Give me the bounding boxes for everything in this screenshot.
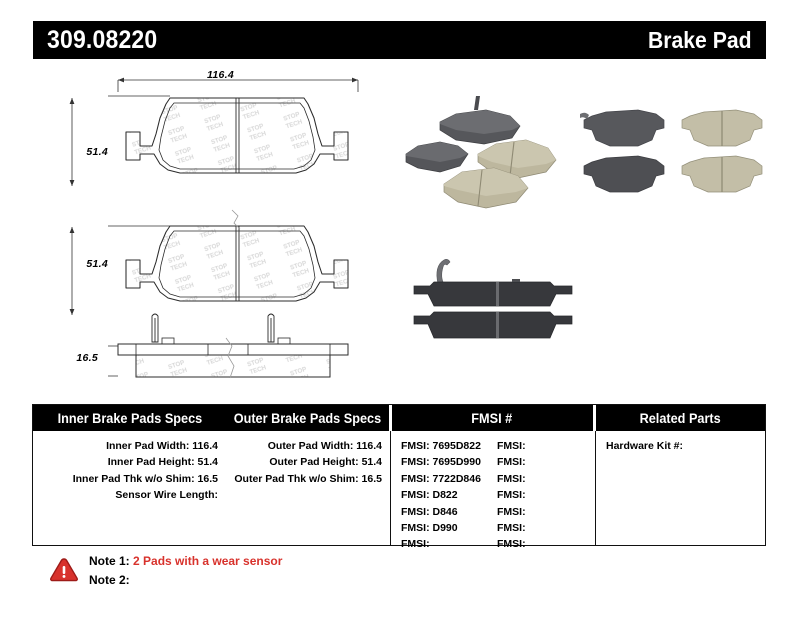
table-header-related-parts: Related Parts	[596, 405, 765, 431]
spec-inner-pad-height: Inner Pad Height: 51.4	[33, 454, 218, 470]
note-1: Note 1: 2 Pads with a wear sensor	[89, 552, 282, 571]
dimension-height-top-line	[66, 92, 112, 192]
fmsi-entry: FMSI: 7695D822	[401, 438, 497, 454]
spec-inner-pad-thk: Inner Pad Thk w/o Shim: 16.5	[33, 471, 218, 487]
column-inner-specs: Inner Pad Width: 116.4 Inner Pad Height:…	[33, 431, 228, 546]
header-bar: 309.08220 Brake Pad	[33, 21, 766, 59]
fmsi-entry: FMSI:	[497, 454, 577, 470]
cad-pad-top-view: STOP TECH	[108, 74, 368, 184]
product-photo-angled	[400, 92, 565, 217]
fmsi-entry: FMSI:	[497, 438, 577, 454]
spec-outer-pad-width: Outer Pad Width: 116.4	[228, 438, 382, 454]
related-hardware-kit: Hardware Kit #:	[606, 438, 765, 454]
dimension-width-label: 116.4	[207, 69, 234, 81]
note-1-label: Note 1:	[89, 554, 130, 568]
fmsi-entry: FMSI: D822	[401, 487, 497, 503]
table-header-outer-specs: Outer Brake Pads Specs	[227, 405, 388, 431]
cad-pad-mid-view	[108, 202, 368, 312]
table-header-inner-specs: Inner Brake Pads Specs	[33, 405, 227, 431]
drawing-area: STOP TECH	[0, 62, 800, 392]
column-fmsi: FMSI: 7695D822 FMSI: 7695D990 FMSI: 7722…	[390, 431, 595, 546]
note-1-text: 2 Pads with a wear sensor	[133, 554, 282, 568]
cad-pad-edge-view	[108, 308, 368, 386]
spec-sensor-wire-length: Sensor Wire Length:	[33, 487, 218, 503]
fmsi-entry: FMSI:	[497, 504, 577, 520]
fmsi-list-right: FMSI: FMSI: FMSI: FMSI: FMSI: FMSI: FMSI…	[497, 438, 577, 546]
note-2-label: Note 2:	[89, 573, 130, 587]
table-header-fmsi: FMSI #	[392, 405, 593, 431]
spec-outer-pad-height: Outer Pad Height: 51.4	[228, 454, 382, 470]
table-header-row: Inner Brake Pads Specs Outer Brake Pads …	[33, 405, 765, 431]
page-title: Brake Pad	[648, 27, 752, 54]
fmsi-entry: FMSI:	[497, 536, 577, 552]
dimension-thickness-label: 16.5	[76, 352, 98, 364]
fmsi-entry: FMSI:	[497, 471, 577, 487]
product-photo-edge-pair	[400, 254, 600, 359]
spec-outer-pad-thk: Outer Pad Thk w/o Shim: 16.5	[228, 471, 382, 487]
dimension-height-mid-line	[66, 222, 112, 322]
spec-table: Inner Brake Pads Specs Outer Brake Pads …	[32, 404, 766, 546]
warning-triangle-icon	[49, 557, 79, 583]
fmsi-entry: FMSI:	[401, 536, 497, 552]
notes-section: Note 1: 2 Pads with a wear sensor Note 2…	[49, 552, 469, 602]
spec-inner-pad-width: Inner Pad Width: 116.4	[33, 438, 218, 454]
note-lines: Note 1: 2 Pads with a wear sensor Note 2…	[89, 552, 282, 590]
note-2: Note 2:	[89, 571, 282, 590]
part-number: 309.08220	[47, 26, 157, 55]
dimension-height-mid-label: 51.4	[86, 258, 108, 270]
fmsi-entry: FMSI: 7695D990	[401, 454, 497, 470]
fmsi-list-left: FMSI: 7695D822 FMSI: 7695D990 FMSI: 7722…	[401, 438, 497, 546]
table-body: Inner Pad Width: 116.4 Inner Pad Height:…	[33, 431, 765, 546]
column-related-parts: Hardware Kit #:	[595, 431, 765, 546]
fmsi-entry: FMSI: D846	[401, 504, 497, 520]
dimension-height-top-label: 51.4	[86, 146, 108, 158]
fmsi-entry: FMSI:	[497, 487, 577, 503]
product-photo-flat	[576, 98, 771, 208]
fmsi-entry: FMSI: 7722D846	[401, 471, 497, 487]
column-outer-specs: Outer Pad Width: 116.4 Outer Pad Height:…	[228, 431, 390, 546]
fmsi-entry: FMSI:	[497, 520, 577, 536]
fmsi-entry: FMSI: D990	[401, 520, 497, 536]
